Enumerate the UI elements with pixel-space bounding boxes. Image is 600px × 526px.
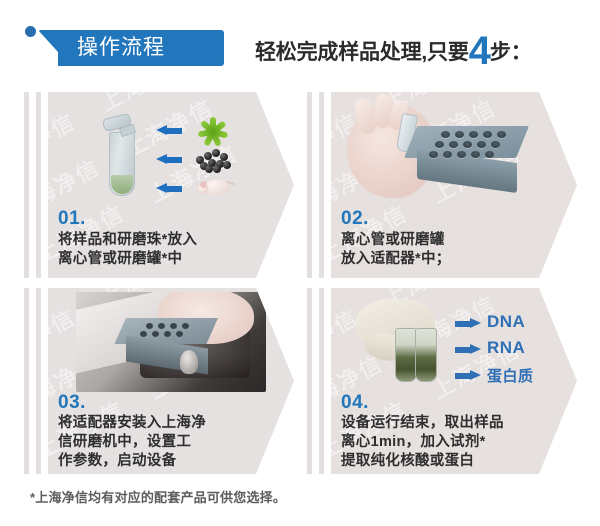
output-label-protein: 蛋白质 <box>487 365 534 386</box>
hand-holding-adapter-photo <box>341 96 537 204</box>
adapter-block <box>417 126 529 188</box>
step-number: 01. <box>58 208 86 230</box>
step-description: 将适配器安装入上海净 信研磨机中，设置工 作参数，启动设备 <box>58 414 206 471</box>
step-line: 放入适配器*中； <box>341 250 451 269</box>
page-headline: 轻松完成样品处理,只要4步： <box>255 33 532 69</box>
tube-body <box>109 132 135 196</box>
sample-vial <box>395 328 417 382</box>
footnote: *上海净信均有对应的配套产品可供您选择。 <box>30 487 286 506</box>
card-stripe <box>24 92 29 278</box>
step-line: 设备运行结束，取出样品 <box>341 414 504 433</box>
card-stripe <box>307 92 312 278</box>
arrow-left-icon <box>156 183 182 194</box>
decorative-dot-icon <box>25 26 36 37</box>
arrow-left-icon <box>156 125 182 136</box>
page-header: 操作流程 轻松完成样品处理,只要4步： <box>0 0 600 88</box>
step-number: 02. <box>341 208 369 230</box>
adapter-block <box>126 318 218 368</box>
headline-step-count: 4 <box>469 29 490 73</box>
grinder-machine-photo <box>76 292 266 392</box>
step-card-02: 上海净信 上海净信 上海净信 上海净信 上海净信 上海净信 <box>305 92 577 278</box>
card-stripe <box>307 288 312 474</box>
plant-leaf-icon <box>196 114 230 146</box>
arrow-right-icon <box>455 344 481 355</box>
step-card-01: 上海净信 上海净信 上海净信 上海净信 上海净信 上海净信 <box>22 92 294 278</box>
headline-suffix: 步： <box>490 41 532 64</box>
card-stripe <box>36 288 41 474</box>
section-banner-label: 操作流程 <box>77 32 217 64</box>
headline-prefix: 轻松完成样品处理,只要 <box>255 41 469 64</box>
card-stripe <box>319 92 324 278</box>
step-line: 离心管或研磨罐 <box>341 231 451 250</box>
step-description: 将样品和研磨珠*放入 离心管或研磨罐*中 <box>58 231 197 269</box>
tube-sample-fill <box>111 175 133 194</box>
grinding-beads-icon <box>194 146 234 172</box>
lab-mouse-icon <box>194 176 234 200</box>
step-line: 作参数，启动设备 <box>58 452 206 471</box>
output-label-rna: RNA <box>487 338 525 358</box>
step-card-03: 上海净信 上海净信 上海净信 上海净信 上海净信 上海净信 <box>22 288 294 474</box>
step-number: 04. <box>341 392 369 414</box>
card-stripe <box>319 288 324 474</box>
step-line: 信研磨机中，设置工 <box>58 433 206 452</box>
centrifuge-tube-illustration <box>103 114 137 200</box>
gloved-hand-with-vials-photo <box>355 298 465 390</box>
sample-vial <box>415 328 437 382</box>
arrow-left-icon <box>156 154 182 165</box>
step-line: 离心管或研磨罐*中 <box>58 250 197 269</box>
step-card-04: 上海净信 上海净信 上海净信 上海净信 上海净信 上海净信 DNA RNA 蛋白… <box>305 288 577 474</box>
step-number: 03. <box>58 392 86 414</box>
output-label-dna: DNA <box>487 312 525 332</box>
machine-knob <box>180 350 198 374</box>
arrow-right-icon <box>455 318 481 329</box>
step-line: 将样品和研磨珠*放入 <box>58 231 197 250</box>
step-description: 设备运行结束，取出样品 离心1min，加入试剂* 提取纯化核酸或蛋白 <box>341 414 504 471</box>
watermark-text: 上海净信 <box>48 104 81 177</box>
card-stripe <box>24 288 29 474</box>
step-line: 离心1min，加入试剂* <box>341 433 504 452</box>
step-line: 提取纯化核酸或蛋白 <box>341 452 504 471</box>
step-line: 将适配器安装入上海净 <box>58 414 206 433</box>
card-stripe <box>36 92 41 278</box>
arrow-right-icon <box>455 370 481 381</box>
step-description: 离心管或研磨罐 放入适配器*中； <box>341 231 451 269</box>
